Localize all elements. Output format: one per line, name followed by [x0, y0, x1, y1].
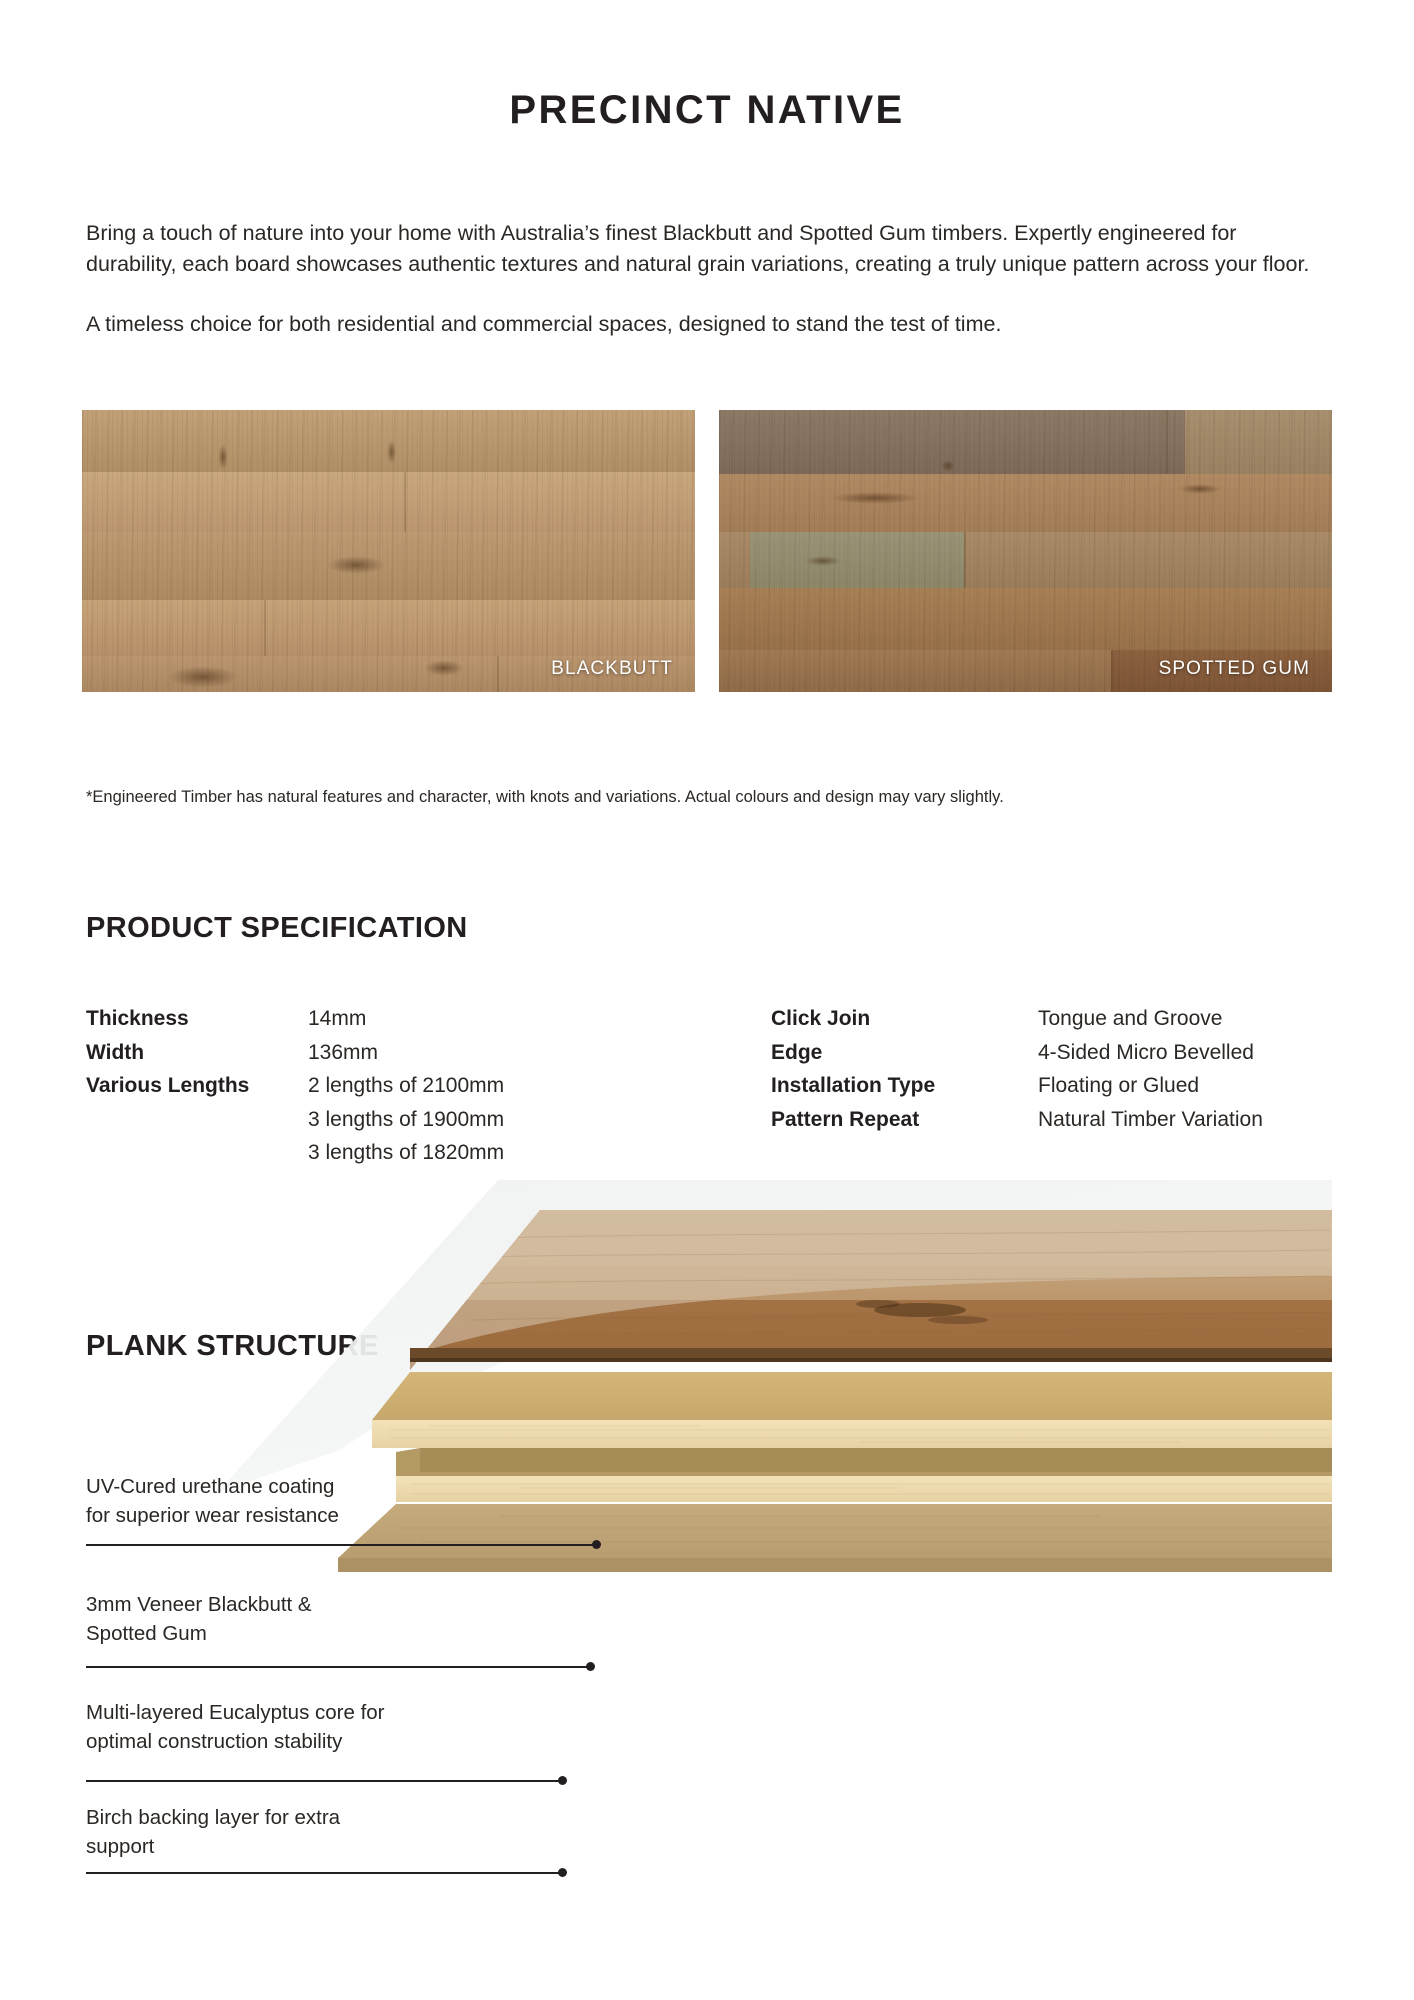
callout-uv-coating-dot	[592, 1540, 601, 1549]
intro-paragraph-2: A timeless choice for both residential a…	[86, 309, 1326, 340]
spec-value-line: Floating or Glued	[1038, 1069, 1199, 1103]
callout-uv-coating: UV-Cured urethane coating for superior w…	[86, 1472, 606, 1530]
specification-table-right: Click Join Tongue and Groove Edge 4-Side…	[771, 1002, 1263, 1136]
spec-value-line: 3 lengths of 1900mm	[308, 1103, 504, 1137]
callout-eucalyptus-core-text: Multi-layered Eucalyptus core for optima…	[86, 1698, 606, 1756]
veneer-layer-edge	[410, 1348, 1332, 1358]
blackbutt-plank-texture	[82, 410, 695, 692]
spec-key-various-lengths: Various Lengths	[86, 1069, 308, 1170]
spec-value-edge: 4-Sided Micro Bevelled	[1038, 1036, 1254, 1070]
callout-eucalyptus-core-leader	[86, 1780, 562, 1782]
spec-key-thickness: Thickness	[86, 1002, 308, 1036]
callout-uv-coating-text: UV-Cured urethane coating for superior w…	[86, 1472, 606, 1530]
callout-line: Spotted Gum	[86, 1619, 606, 1648]
callout-uv-coating-leader	[86, 1544, 596, 1546]
callout-veneer-dot	[586, 1662, 595, 1671]
swatch-gallery: BLACKBUTT	[82, 410, 1332, 692]
spec-row-edge: Edge 4-Sided Micro Bevelled	[771, 1036, 1263, 1070]
blackbutt-swatch-label: BLACKBUTT	[551, 658, 673, 680]
blackbutt-swatch: BLACKBUTT	[82, 410, 695, 692]
callout-birch-backing-dot	[558, 1868, 567, 1877]
spec-row-pattern-repeat: Pattern Repeat Natural Timber Variation	[771, 1103, 1263, 1137]
callout-line: support	[86, 1832, 606, 1861]
product-specification-heading: PRODUCT SPECIFICATION	[86, 912, 468, 945]
spec-value-installation-type: Floating or Glued	[1038, 1069, 1199, 1103]
spec-key-edge: Edge	[771, 1036, 1038, 1070]
spec-value-line: Tongue and Groove	[1038, 1002, 1222, 1036]
spotted-gum-swatch-label: SPOTTED GUM	[1159, 658, 1310, 680]
callout-veneer: 3mm Veneer Blackbutt & Spotted Gum	[86, 1590, 606, 1648]
eucalyptus-core-slab-1-top	[372, 1372, 1332, 1420]
spec-row-click-join: Click Join Tongue and Groove	[771, 1002, 1263, 1036]
callout-line: 3mm Veneer Blackbutt &	[86, 1590, 606, 1619]
spec-value-thickness: 14mm	[308, 1002, 366, 1036]
callout-eucalyptus-core: Multi-layered Eucalyptus core for optima…	[86, 1698, 606, 1756]
callout-line: optimal construction stability	[86, 1727, 606, 1756]
spec-value-line: 136mm	[308, 1036, 378, 1070]
veneer-grain	[410, 1210, 1332, 1370]
intro-copy: Bring a touch of nature into your home w…	[86, 218, 1326, 340]
spec-value-pattern-repeat: Natural Timber Variation	[1038, 1103, 1263, 1137]
spec-row-installation-type: Installation Type Floating or Glued	[771, 1069, 1263, 1103]
spec-row-various-lengths: Various Lengths 2 lengths of 2100mm 3 le…	[86, 1069, 504, 1170]
product-datasheet-page: PRECINCT NATIVE Bring a touch of nature …	[0, 0, 1414, 2000]
spotted-gum-swatch: SPOTTED GUM	[719, 410, 1332, 692]
spec-value-line: 4-Sided Micro Bevelled	[1038, 1036, 1254, 1070]
intro-paragraph-1: Bring a touch of nature into your home w…	[86, 218, 1326, 280]
spec-value-line: 3 lengths of 1820mm	[308, 1136, 504, 1170]
swatch-disclaimer: *Engineered Timber has natural features …	[86, 786, 1336, 808]
callout-birch-backing: Birch backing layer for extra support	[86, 1803, 606, 1861]
callout-veneer-leader	[86, 1666, 590, 1668]
spec-row-width: Width 136mm	[86, 1036, 504, 1070]
spec-key-pattern-repeat: Pattern Repeat	[771, 1103, 1038, 1137]
birch-backing-layer-edge	[338, 1558, 1332, 1572]
callout-eucalyptus-core-dot	[558, 1776, 567, 1785]
eucalyptus-core-slab-2-shadow	[420, 1448, 1332, 1472]
callout-line: Multi-layered Eucalyptus core for	[86, 1698, 606, 1727]
specification-table-left: Thickness 14mm Width 136mm Various Lengt…	[86, 1002, 504, 1170]
callout-line: for superior wear resistance	[86, 1501, 606, 1530]
spec-value-width: 136mm	[308, 1036, 378, 1070]
spec-key-width: Width	[86, 1036, 308, 1070]
callout-birch-backing-text: Birch backing layer for extra support	[86, 1803, 606, 1861]
spec-value-line: Natural Timber Variation	[1038, 1103, 1263, 1137]
callout-birch-backing-leader	[86, 1872, 562, 1874]
callout-veneer-text: 3mm Veneer Blackbutt & Spotted Gum	[86, 1590, 606, 1648]
callout-line: Birch backing layer for extra	[86, 1803, 606, 1832]
spec-key-installation-type: Installation Type	[771, 1069, 1038, 1103]
eucalyptus-core-slab-1-edge	[372, 1420, 1332, 1448]
callout-line: UV-Cured urethane coating	[86, 1472, 606, 1501]
spec-value-click-join: Tongue and Groove	[1038, 1002, 1222, 1036]
spotted-gum-plank-texture	[719, 410, 1332, 692]
spec-value-line: 2 lengths of 2100mm	[308, 1069, 504, 1103]
spec-value-line: 14mm	[308, 1002, 366, 1036]
spec-row-thickness: Thickness 14mm	[86, 1002, 504, 1036]
page-title: PRECINCT NATIVE	[0, 88, 1414, 133]
spec-value-various-lengths: 2 lengths of 2100mm 3 lengths of 1900mm …	[308, 1069, 504, 1170]
spec-key-click-join: Click Join	[771, 1002, 1038, 1036]
